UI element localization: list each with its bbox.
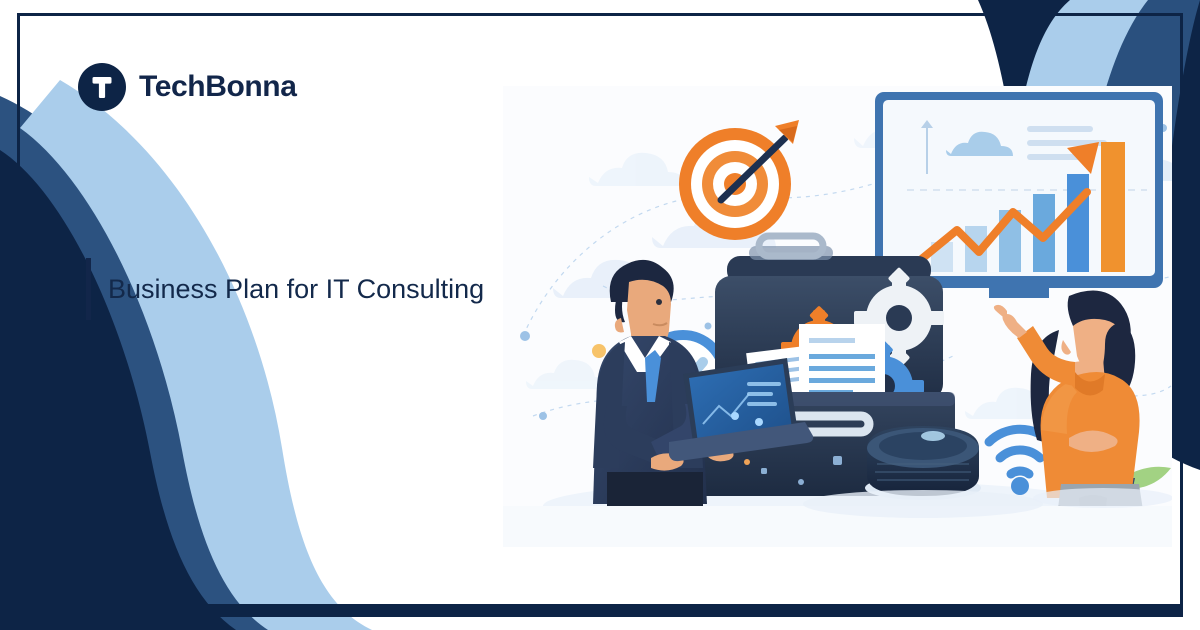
brand-logo[interactable]: TechBonna xyxy=(78,63,297,111)
title-accent-rule xyxy=(86,258,91,320)
it-consulting-illustration: 10101010 10101000 xyxy=(503,86,1172,547)
page-title-text: Business Plan for IT Consulting xyxy=(108,258,484,320)
wifi-icon-dot xyxy=(1011,477,1029,495)
brand-name: TechBonna xyxy=(139,70,297,104)
slide-canvas: TechBonna Business Plan for IT Consultin… xyxy=(0,0,1200,630)
bottom-left-swoosh xyxy=(0,80,372,630)
page-title: Business Plan for IT Consulting xyxy=(86,258,484,320)
network-dot-accent xyxy=(592,344,606,358)
circle-t-logo-icon xyxy=(78,63,126,111)
smart-speaker-icon xyxy=(865,426,981,500)
